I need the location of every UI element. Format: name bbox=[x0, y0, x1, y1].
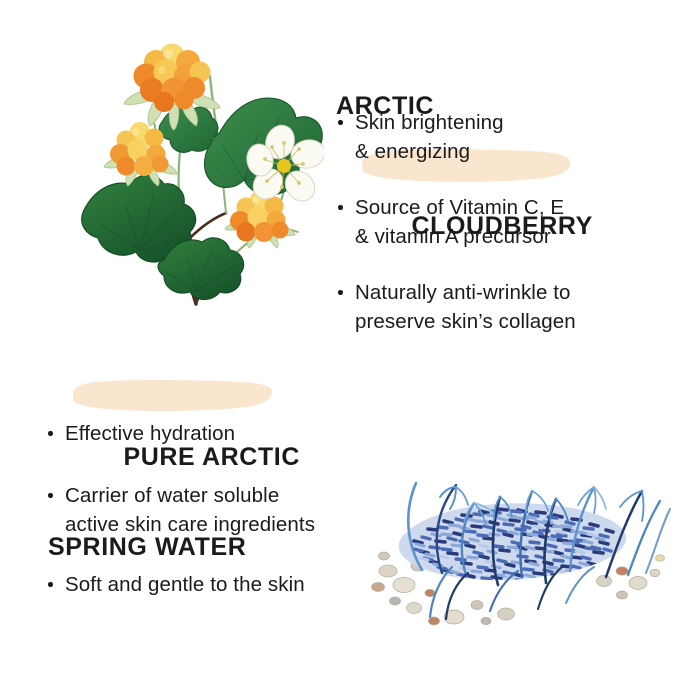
bullet-item: Naturally anti-wrinkle to preserve skin’… bbox=[336, 278, 666, 336]
highlight-brush-stroke bbox=[69, 379, 275, 413]
bullet-line-1: Effective hydration bbox=[65, 419, 376, 448]
bullet-item: Effective hydration bbox=[46, 419, 376, 448]
bullet-dot-icon bbox=[338, 290, 343, 295]
infographic-page: ARCTIC CLOUDBERRY Skin brightening & ene… bbox=[0, 0, 679, 679]
bullet-line-1: Naturally anti-wrinkle to bbox=[355, 278, 666, 307]
cloudberry-right bbox=[225, 190, 295, 248]
bullet-dot-icon bbox=[338, 120, 343, 125]
flower-center bbox=[277, 159, 291, 173]
bullet-line-1: Soft and gentle to the skin bbox=[65, 570, 376, 599]
bullet-dot-icon bbox=[48, 582, 53, 587]
bullet-list-arctic-cloudberry: Skin brightening & energizing Source of … bbox=[336, 108, 666, 336]
bullet-dot-icon bbox=[48, 431, 53, 436]
bullet-line-2: preserve skin’s collagen bbox=[355, 307, 666, 336]
bullet-line-2: & energizing bbox=[355, 137, 666, 166]
bullet-item: Soft and gentle to the skin bbox=[46, 570, 376, 599]
bullet-item: Skin brightening & energizing bbox=[336, 108, 666, 166]
bullet-line-1: Source of Vitamin C, E bbox=[355, 193, 666, 222]
bullet-list-pure-arctic-spring-water: Effective hydration Carrier of water sol… bbox=[46, 419, 376, 599]
bullet-line-2: & vitamin A precursor bbox=[355, 222, 666, 251]
bullet-dot-icon bbox=[338, 205, 343, 210]
bullet-line-2: active skin care ingredients bbox=[65, 510, 376, 539]
cloudberry-plant-illustration bbox=[44, 14, 324, 324]
bullet-item: Source of Vitamin C, E & vitamin A precu… bbox=[336, 193, 666, 251]
bullet-line-1: Skin brightening bbox=[355, 108, 666, 137]
arctic-spring-water-illustration bbox=[370, 425, 675, 630]
bullet-item: Carrier of water soluble active skin car… bbox=[46, 481, 376, 539]
bullet-dot-icon bbox=[48, 493, 53, 498]
bullet-line-1: Carrier of water soluble bbox=[65, 481, 376, 510]
pebble-group-bottom bbox=[429, 601, 515, 626]
